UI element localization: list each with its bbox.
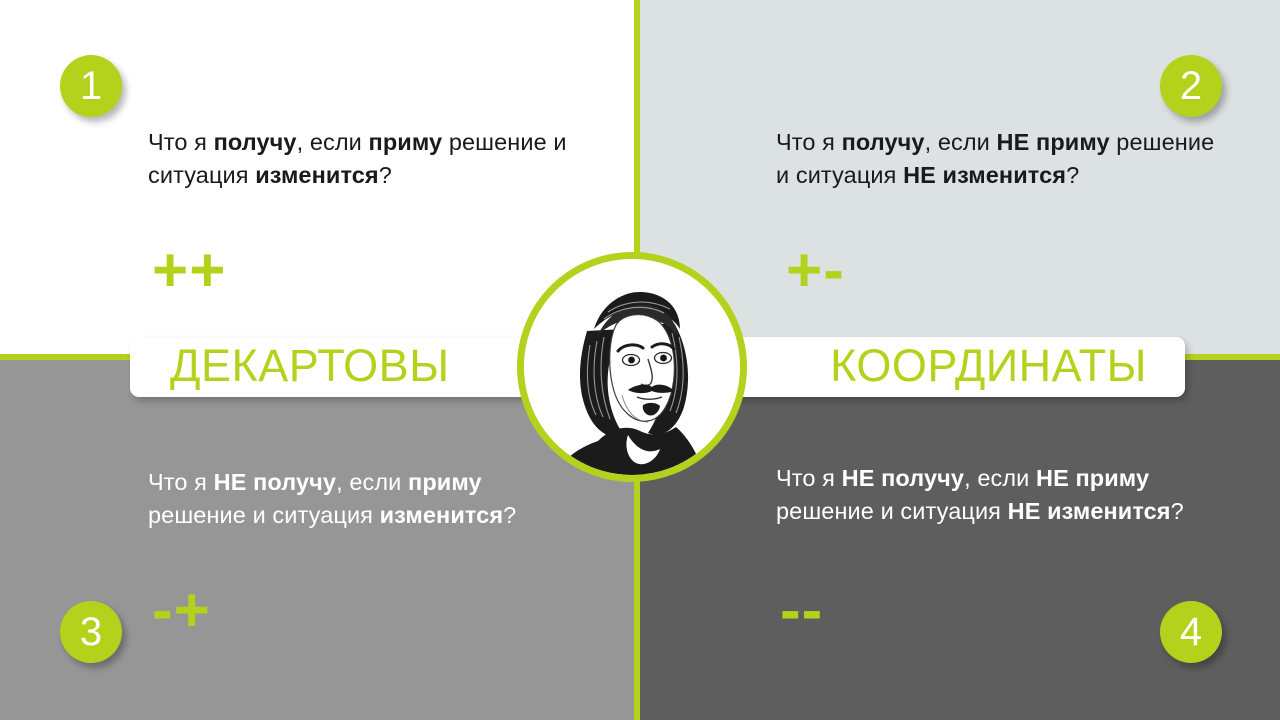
quadrant-3-sign: -+ [152,580,211,642]
quadrant-2-question: Что я получу, если НЕ приму решение и си… [776,126,1216,193]
quadrant-2-number-badge[interactable]: 2 [1160,55,1222,117]
quadrant-4-sign: -- [780,580,823,642]
quadrant-4-question: Что я НЕ получу, если НЕ приму решение и… [776,462,1206,529]
quadrant-1-sign: ++ [152,240,226,302]
quadrant-1-number-badge[interactable]: 1 [60,55,122,117]
quadrant-2-sign: +- [786,240,845,302]
quadrant-4-number-badge[interactable]: 4 [1160,601,1222,663]
slide-canvas: Что я получу, если приму решение и ситуа… [0,0,1280,720]
quadrant-3-question: Что я НЕ получу, если приму решение и си… [148,466,578,533]
title-word-right: КООРДИНАТЫ [830,337,1147,397]
title-word-left: ДЕКАРТОВЫ [170,337,450,397]
descartes-portrait-icon [517,252,747,482]
quadrant-1-question: Что я получу, если приму решение и ситуа… [148,126,578,193]
quadrant-3-number-badge[interactable]: 3 [60,601,122,663]
